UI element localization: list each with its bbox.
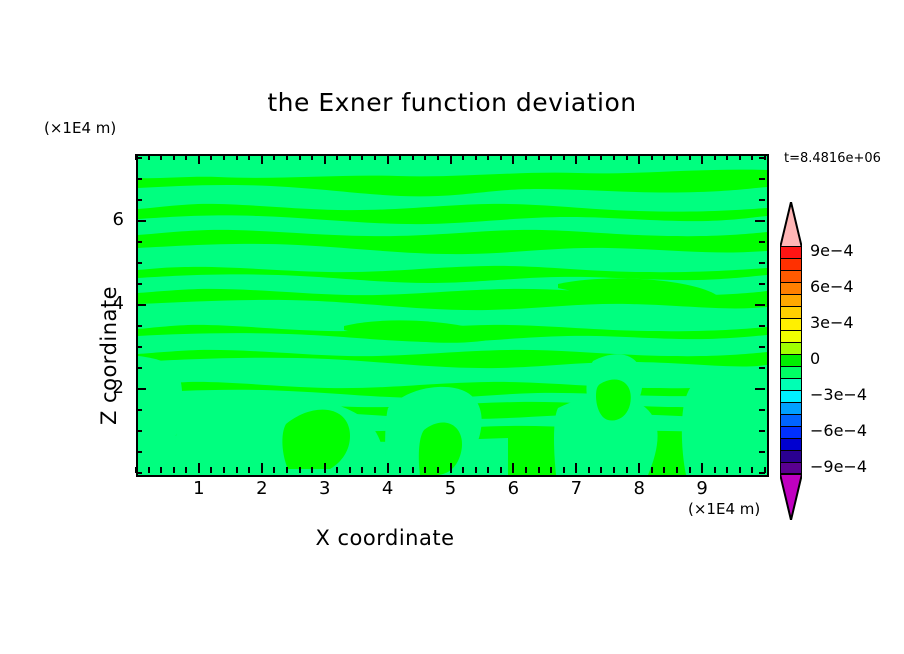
plot-area xyxy=(136,154,769,477)
colorbar-band xyxy=(780,330,802,342)
x-tick-mark xyxy=(487,154,489,160)
y-tick-mark xyxy=(136,430,142,432)
x-tick-mark xyxy=(676,467,678,473)
x-tick-mark xyxy=(273,467,275,473)
x-tick-mark xyxy=(500,154,502,160)
colorbar-band xyxy=(780,270,802,282)
x-tick-mark xyxy=(148,467,150,473)
y-tick-mark xyxy=(759,346,765,348)
y-tick-mark xyxy=(759,157,765,159)
colorbar-tick-label: 3e−4 xyxy=(810,313,854,332)
x-tick-label: 1 xyxy=(179,478,219,499)
y-tick-label: 4 xyxy=(94,293,124,314)
x-tick-mark xyxy=(701,463,703,473)
x-tick-mark xyxy=(223,467,225,473)
x-tick-mark xyxy=(160,154,162,160)
colorbar-tick-label: −3e−4 xyxy=(810,385,867,404)
x-tick-mark xyxy=(525,467,527,473)
x-tick-mark xyxy=(185,154,187,160)
x-tick-mark xyxy=(538,467,540,473)
colorbar-band xyxy=(780,438,802,450)
colorbar-band xyxy=(780,390,802,402)
x-tick-mark xyxy=(185,467,187,473)
x-tick-label: 2 xyxy=(242,478,282,499)
colorbar-band xyxy=(780,402,802,414)
x-tick-label: 6 xyxy=(493,478,533,499)
x-tick-mark xyxy=(173,154,175,160)
colorbar-tick-label: 6e−4 xyxy=(810,277,854,296)
x-tick-mark xyxy=(399,154,401,160)
y-tick-mark xyxy=(759,262,765,264)
colorbar-band xyxy=(780,462,802,474)
x-tick-mark xyxy=(236,154,238,160)
timestamp-annotation: t=8.4816e+06 xyxy=(784,151,881,166)
x-tick-mark xyxy=(563,467,565,473)
y-tick-mark xyxy=(136,388,146,390)
x-tick-mark xyxy=(286,467,288,473)
x-tick-mark xyxy=(714,154,716,160)
x-tick-mark xyxy=(600,467,602,473)
x-tick-mark xyxy=(550,154,552,160)
colorbar-tick-label: 9e−4 xyxy=(810,241,854,260)
x-tick-mark xyxy=(651,154,653,160)
x-tick-mark xyxy=(236,467,238,473)
x-tick-mark xyxy=(374,154,376,160)
colorbar-tick-label: 0 xyxy=(810,349,820,368)
x-tick-mark xyxy=(311,154,313,160)
y-tick-mark xyxy=(136,199,142,201)
colorbar-under-arrow xyxy=(780,474,802,520)
x-tick-mark xyxy=(626,467,628,473)
y-tick-mark xyxy=(136,304,146,306)
x-tick-mark xyxy=(751,467,753,473)
colorbar-tick-label: −9e−4 xyxy=(810,457,867,476)
x-tick-mark xyxy=(663,154,665,160)
colorbar-band xyxy=(780,318,802,330)
y-tick-label: 6 xyxy=(94,209,124,230)
page-title: the Exner function deviation xyxy=(0,88,904,117)
x-tick-mark xyxy=(173,467,175,473)
y-tick-mark xyxy=(759,241,765,243)
x-tick-mark xyxy=(248,154,250,160)
y-tick-mark xyxy=(136,178,142,180)
x-tick-mark xyxy=(424,154,426,160)
x-tick-mark xyxy=(575,154,577,164)
x-tick-mark xyxy=(361,467,363,473)
x-tick-mark xyxy=(450,463,452,473)
x-tick-mark xyxy=(500,467,502,473)
x-tick-mark xyxy=(550,467,552,473)
x-tick-mark xyxy=(210,154,212,160)
colorbar xyxy=(780,246,802,474)
colorbar-band xyxy=(780,246,802,258)
x-tick-mark xyxy=(148,154,150,160)
x-tick-mark xyxy=(198,463,200,473)
x-tick-mark xyxy=(676,154,678,160)
x-tick-mark xyxy=(412,154,414,160)
colorbar-band xyxy=(780,366,802,378)
colorbar-band xyxy=(780,414,802,426)
x-tick-mark xyxy=(663,467,665,473)
y-tick-mark xyxy=(759,325,765,327)
x-tick-mark xyxy=(248,467,250,473)
x-tick-label: 7 xyxy=(556,478,596,499)
x-tick-label: 3 xyxy=(305,478,345,499)
x-tick-mark xyxy=(223,154,225,160)
y-tick-mark xyxy=(136,451,142,453)
y-tick-mark xyxy=(759,472,765,474)
y-tick-mark xyxy=(755,388,765,390)
x-tick-mark xyxy=(714,467,716,473)
colorbar-band xyxy=(780,258,802,270)
colorbar-band xyxy=(780,378,802,390)
y-tick-mark xyxy=(136,157,142,159)
colorbar-tick-label: −6e−4 xyxy=(810,421,867,440)
colorbar-over-arrow xyxy=(780,202,802,248)
x-tick-mark xyxy=(613,467,615,473)
x-tick-mark xyxy=(437,467,439,473)
x-tick-mark xyxy=(588,467,590,473)
x-tick-mark xyxy=(299,467,301,473)
y-tick-mark xyxy=(759,409,765,411)
x-tick-mark xyxy=(613,154,615,160)
y-tick-mark xyxy=(755,304,765,306)
y-axis-units-label: (×1E4 m) xyxy=(44,119,116,137)
x-tick-mark xyxy=(349,467,351,473)
x-tick-mark xyxy=(273,154,275,160)
y-tick-mark xyxy=(759,451,765,453)
y-tick-mark xyxy=(136,472,142,474)
x-tick-mark xyxy=(437,154,439,160)
x-tick-mark xyxy=(563,154,565,160)
y-tick-mark xyxy=(759,430,765,432)
x-tick-mark xyxy=(336,154,338,160)
x-tick-mark xyxy=(399,467,401,473)
y-tick-mark xyxy=(755,220,765,222)
x-tick-mark xyxy=(588,154,590,160)
x-tick-mark xyxy=(198,154,200,164)
y-tick-mark xyxy=(136,409,142,411)
x-tick-mark xyxy=(160,467,162,473)
y-tick-mark xyxy=(136,220,146,222)
x-tick-mark xyxy=(210,467,212,473)
x-tick-mark xyxy=(575,463,577,473)
contour-field xyxy=(138,156,767,475)
y-tick-mark xyxy=(759,199,765,201)
x-tick-mark xyxy=(261,463,263,473)
x-tick-mark xyxy=(739,154,741,160)
y-tick-mark xyxy=(136,346,142,348)
x-tick-mark xyxy=(475,154,477,160)
y-tick-label: 2 xyxy=(94,377,124,398)
x-tick-mark xyxy=(512,463,514,473)
x-tick-mark xyxy=(689,154,691,160)
y-tick-mark xyxy=(759,367,765,369)
x-tick-mark xyxy=(525,154,527,160)
x-tick-mark xyxy=(512,154,514,164)
x-tick-mark xyxy=(739,467,741,473)
x-tick-label: 8 xyxy=(619,478,659,499)
x-tick-mark xyxy=(311,467,313,473)
x-tick-mark xyxy=(349,154,351,160)
colorbar-band xyxy=(780,354,802,366)
x-tick-mark xyxy=(638,154,640,164)
x-tick-mark xyxy=(689,467,691,473)
x-tick-mark xyxy=(726,467,728,473)
x-tick-mark xyxy=(450,154,452,164)
contour-figure: the Exner function deviation (×1E4 m) (×… xyxy=(0,0,904,654)
colorbar-band xyxy=(780,426,802,438)
x-tick-mark xyxy=(424,467,426,473)
colorbar-band xyxy=(780,294,802,306)
x-tick-mark xyxy=(726,154,728,160)
x-tick-label: 4 xyxy=(368,478,408,499)
y-tick-mark xyxy=(136,325,142,327)
x-tick-mark xyxy=(286,154,288,160)
x-tick-mark xyxy=(299,154,301,160)
y-tick-mark xyxy=(136,241,142,243)
x-tick-mark xyxy=(462,467,464,473)
x-tick-mark xyxy=(638,463,640,473)
y-tick-mark xyxy=(759,178,765,180)
x-tick-label: 5 xyxy=(431,478,471,499)
x-tick-mark xyxy=(412,467,414,473)
x-tick-mark xyxy=(387,154,389,164)
x-tick-mark xyxy=(538,154,540,160)
y-tick-mark xyxy=(136,262,142,264)
x-tick-mark xyxy=(462,154,464,160)
x-tick-mark xyxy=(261,154,263,164)
x-tick-mark xyxy=(651,467,653,473)
x-tick-mark xyxy=(487,467,489,473)
x-tick-mark xyxy=(475,467,477,473)
x-tick-mark xyxy=(324,463,326,473)
x-tick-mark xyxy=(600,154,602,160)
colorbar-band xyxy=(780,342,802,354)
x-tick-mark xyxy=(324,154,326,164)
x-axis-title: X coordinate xyxy=(0,526,770,550)
colorbar-band xyxy=(780,450,802,462)
colorbar-band xyxy=(780,306,802,318)
y-tick-mark xyxy=(136,283,142,285)
y-tick-mark xyxy=(759,283,765,285)
x-tick-mark xyxy=(336,467,338,473)
x-tick-mark xyxy=(361,154,363,160)
x-tick-label: 9 xyxy=(682,478,722,499)
x-axis-units-label: (×1E4 m) xyxy=(688,500,760,518)
x-tick-mark xyxy=(626,154,628,160)
colorbar-band xyxy=(780,282,802,294)
x-tick-mark xyxy=(751,154,753,160)
x-tick-mark xyxy=(374,467,376,473)
y-tick-mark xyxy=(136,367,142,369)
x-tick-mark xyxy=(701,154,703,164)
x-tick-mark xyxy=(387,463,389,473)
